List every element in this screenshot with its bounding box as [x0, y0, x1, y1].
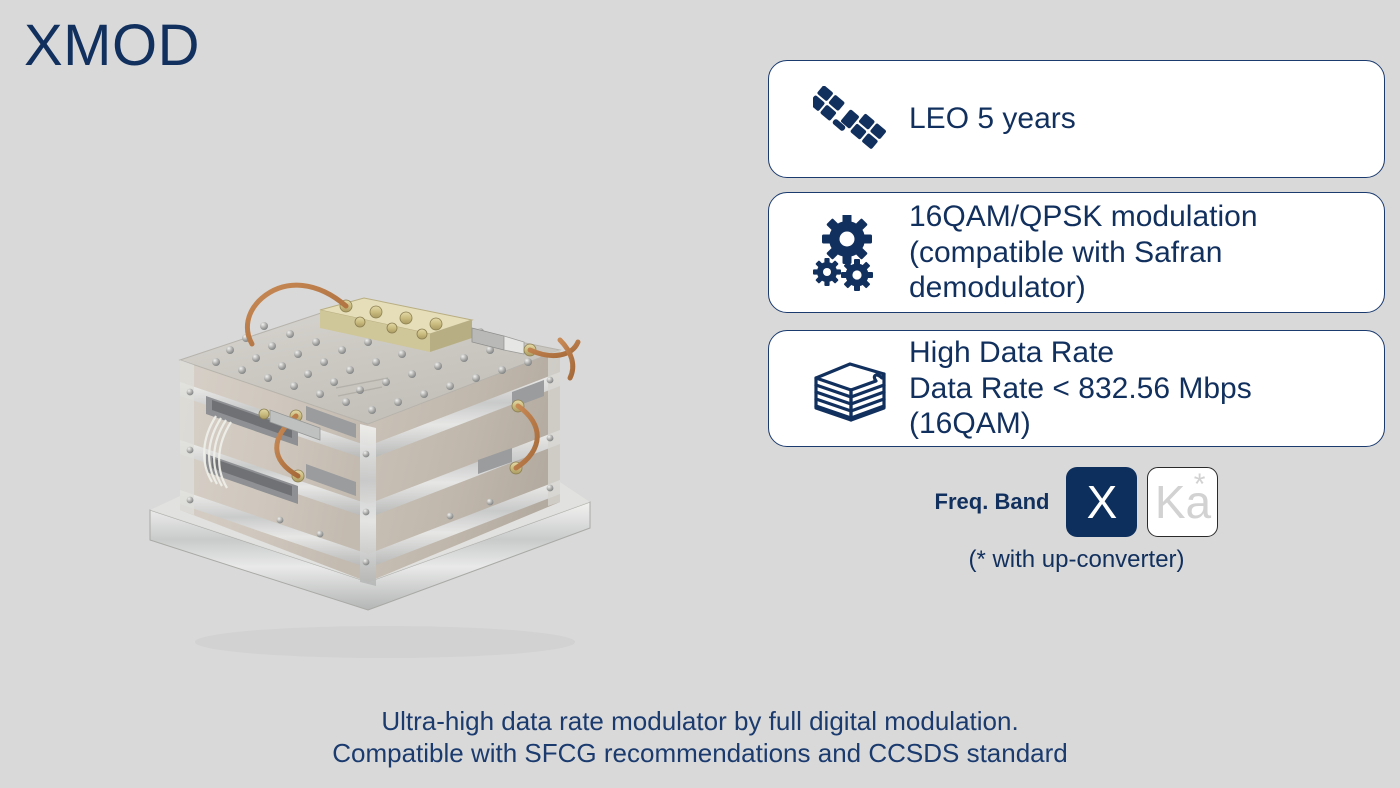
- page-title: XMOD: [24, 14, 200, 78]
- product-photo: [120, 210, 660, 680]
- feature-line-2: (compatible with Safran demodulator): [909, 235, 1374, 306]
- feature-line-1: High Data Rate: [909, 336, 1114, 369]
- caption: Ultra-high data rate modulator by full d…: [60, 706, 1340, 770]
- feature-line-1: 16QAM/QPSK modulation: [909, 200, 1258, 233]
- feature-card-leo-text: LEO 5 years: [909, 101, 1384, 136]
- feature-line-2: Data Rate < 832.56 Mbps (16QAM): [909, 371, 1374, 442]
- band-badge-x-label: X: [1087, 475, 1118, 529]
- product-slide: XMOD: [0, 0, 1400, 788]
- caption-line-1: Ultra-high data rate modulator by full d…: [60, 706, 1340, 738]
- caption-line-2: Compatible with SFCG recommendations and…: [60, 738, 1340, 770]
- feature-card-modulation: 16QAM/QPSK modulation (compatible with S…: [768, 192, 1385, 313]
- band-badge-ka-asterisk: *: [1194, 470, 1206, 500]
- frequency-band-label: Freq. Band: [935, 489, 1050, 515]
- band-badge-ka[interactable]: Ka *: [1147, 467, 1218, 537]
- band-badge-x[interactable]: X: [1066, 467, 1137, 537]
- paper-stack-icon: [797, 354, 909, 424]
- feature-line-1: LEO 5 years: [909, 102, 1076, 135]
- feature-card-leo: LEO 5 years: [768, 60, 1385, 178]
- frequency-band-note: (* with up-converter): [768, 546, 1385, 574]
- satellite-icon: [797, 86, 909, 152]
- feature-card-modulation-text: 16QAM/QPSK modulation (compatible with S…: [909, 199, 1384, 305]
- gears-icon: [797, 215, 909, 291]
- frequency-band-row: Freq. Band X Ka *: [768, 466, 1385, 538]
- feature-card-data-rate: High Data Rate Data Rate < 832.56 Mbps (…: [768, 330, 1385, 447]
- feature-card-data-rate-text: High Data Rate Data Rate < 832.56 Mbps (…: [909, 335, 1384, 441]
